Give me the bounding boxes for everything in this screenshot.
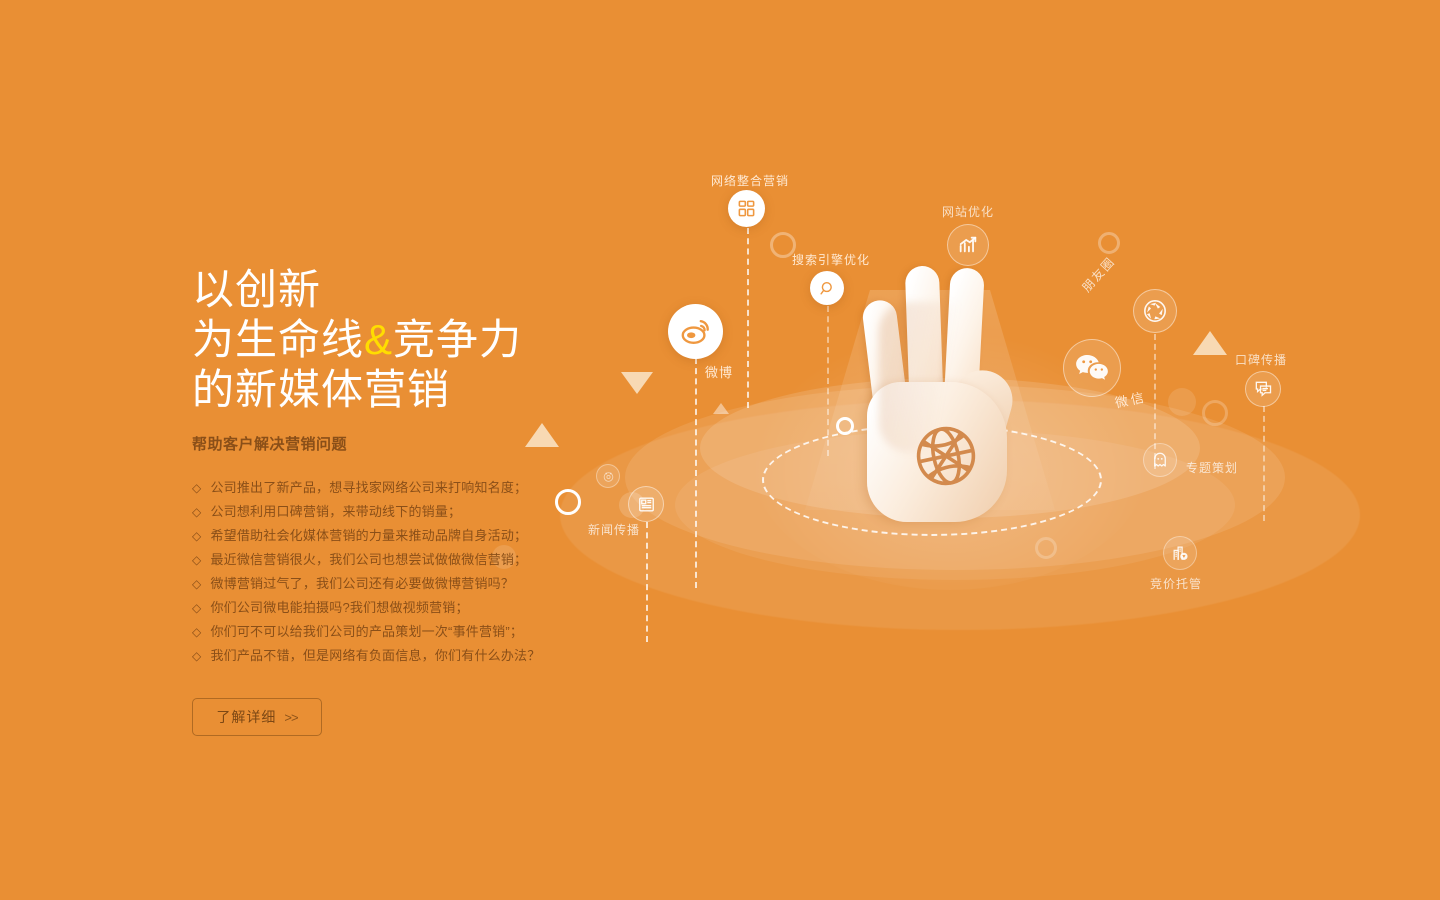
- learn-more-label: 了解详细: [216, 707, 276, 727]
- pain-point-list: ◇ 公司推出了新产品，想寻找家网络公司来打响知名度； ◇ 公司想利用口碑营销，来…: [192, 476, 612, 668]
- hero-copy: 以创新 为生命线&竞争力 的新媒体营销 帮助客户解决营销问题 ◇ 公司推出了新产…: [192, 265, 612, 736]
- chat-bubbles-icon: [1253, 379, 1273, 399]
- grid-icon: [737, 199, 756, 218]
- headline-line-2-a: 为生命线: [192, 316, 364, 363]
- node-label-website-optimization: 网站优化: [942, 203, 994, 220]
- list-item: ◇ 你们可不可以给我们公司的产品策划一次“事件营销”；: [192, 620, 612, 644]
- page-subtitle: 帮助客户解决营销问题: [192, 433, 612, 454]
- node-label-network-integrated-marketing: 网络整合营销: [711, 172, 789, 189]
- deco-circle-12: [1168, 388, 1196, 416]
- node-label-seo: 搜索引擎优化: [792, 251, 870, 268]
- node-connector-weibo: [695, 358, 697, 588]
- deco-circle-4: [1098, 232, 1120, 254]
- diamond-bullet-icon: ◇: [192, 548, 201, 572]
- hero-banner: 网络整合营销 搜索引擎优化: [0, 0, 1440, 900]
- list-item: ◇ 最近微信营销很火，我们公司也想尝试做做微信营销；: [192, 548, 612, 572]
- search-icon: [819, 280, 836, 297]
- globe-icon: [903, 413, 988, 498]
- list-item-label: 你们公司微电能拍摄吗?我们想做视频营销；: [210, 596, 468, 620]
- diamond-bullet-icon: ◇: [192, 620, 201, 644]
- diamond-bullet-icon: ◇: [192, 644, 201, 668]
- headline-line-1: 以创新: [192, 265, 612, 315]
- node-icon-word-of-mouth[interactable]: [1245, 371, 1281, 407]
- node-label-topic-planning: 专题策划: [1186, 459, 1238, 476]
- list-item-label: 希望借助社会化媒体营销的力量来推动品牌自身活动；: [210, 524, 527, 548]
- node-icon-bidding-hosting[interactable]: [1163, 536, 1197, 570]
- headline-line-3: 的新媒体营销: [192, 365, 612, 415]
- diamond-bullet-icon: ◇: [192, 524, 201, 548]
- node-label-moments: 朋友圈: [1078, 253, 1119, 296]
- wechat-icon: [1075, 351, 1109, 385]
- node-label-word-of-mouth: 口碑传播: [1235, 351, 1287, 368]
- list-item: ◇ 公司推出了新产品，想寻找家网络公司来打响知名度；: [192, 476, 612, 500]
- page-title: 以创新 为生命线&竞争力 的新媒体营销: [192, 265, 612, 415]
- hand-with-globe: [855, 262, 1015, 522]
- diamond-bullet-icon: ◇: [192, 500, 201, 524]
- deco-triangle-up-3: [1193, 331, 1227, 355]
- list-item-label: 我们产品不错，但是网络有负面信息，你们有什么办法？: [210, 644, 540, 668]
- node-icon-topic-planning[interactable]: [1143, 443, 1177, 477]
- headline-ampersand: &: [364, 316, 393, 363]
- list-item-label: 你们可不可以给我们公司的产品策划一次“事件营销”；: [210, 620, 523, 644]
- node-icon-wechat[interactable]: [1063, 339, 1121, 397]
- headline-line-2: 为生命线&竞争力: [192, 315, 612, 365]
- list-item: ◇ 你们公司微电能拍摄吗?我们想做视频营销；: [192, 596, 612, 620]
- weibo-icon: [680, 316, 712, 348]
- ghost-icon: [1151, 451, 1169, 469]
- headline-line-2-b: 竞争力: [393, 316, 522, 363]
- deco-circle-6: [1035, 537, 1057, 559]
- node-icon-weibo[interactable]: [668, 304, 723, 359]
- list-item: ◇ 希望借助社会化媒体营销的力量来推动品牌自身活动；: [192, 524, 612, 548]
- node-icon-news-distribution[interactable]: [628, 486, 664, 522]
- list-item-label: 公司想利用口碑营销，来带动线下的销量；: [210, 500, 461, 524]
- node-connector-seo: [827, 306, 829, 456]
- newspaper-icon: [637, 495, 656, 514]
- list-item-label: 公司推出了新产品，想寻找家网络公司来打响知名度；: [210, 476, 527, 500]
- diamond-bullet-icon: ◇: [192, 596, 201, 620]
- node-icon-website-optimization[interactable]: [947, 224, 989, 266]
- node-connector-network: [747, 228, 749, 408]
- chevron-right-icon: >>: [284, 710, 297, 725]
- list-item-label: 微博营销过气了，我们公司还有必要做微博营销吗？: [210, 572, 514, 596]
- node-icon-seo[interactable]: [810, 271, 844, 305]
- deco-circle-5: [1202, 400, 1228, 426]
- aperture-icon: [1142, 298, 1168, 324]
- list-item: ◇ 微博营销过气了，我们公司还有必要做微博营销吗？: [192, 572, 612, 596]
- deco-circle-2: [836, 417, 854, 435]
- deco-triangle-up-2: [713, 403, 729, 414]
- diamond-bullet-icon: ◇: [192, 572, 201, 596]
- node-icon-moments[interactable]: [1133, 289, 1177, 333]
- deco-triangle-down: [621, 372, 653, 394]
- node-label-bidding-hosting: 竞价托管: [1150, 575, 1202, 592]
- list-item: ◇ 公司想利用口碑营销，来带动线下的销量；: [192, 500, 612, 524]
- learn-more-button[interactable]: 了解详细 >>: [192, 698, 322, 736]
- bar-chart-icon: [957, 234, 979, 256]
- node-connector-word-of-mouth: [1263, 406, 1265, 521]
- node-connector-news: [646, 522, 648, 642]
- node-label-weibo: 微博: [705, 362, 733, 381]
- node-icon-network-integrated-marketing[interactable]: [728, 190, 765, 227]
- diamond-bullet-icon: ◇: [192, 476, 201, 500]
- list-item-label: 最近微信营销很火，我们公司也想尝试做做微信营销；: [210, 548, 527, 572]
- marketing-illustration: 网络整合营销 搜索引擎优化: [500, 0, 1440, 900]
- bid-chart-icon: [1171, 544, 1190, 563]
- list-item: ◇ 我们产品不错，但是网络有负面信息，你们有什么办法？: [192, 644, 612, 668]
